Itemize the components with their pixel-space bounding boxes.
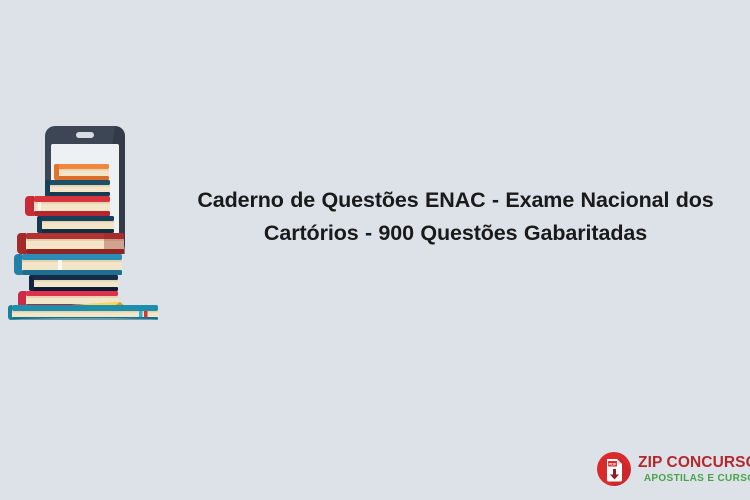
book-red-3 [25, 196, 110, 216]
pdf-download-icon: PDF [596, 451, 632, 487]
illustration-container [0, 112, 175, 322]
product-banner: Caderno de Questões ENAC - Exame Naciona… [0, 0, 750, 500]
book-darkred-5 [17, 233, 124, 254]
title-container: Caderno de Questões ENAC - Exame Naciona… [175, 184, 750, 250]
page-title: Caderno de Questões ENAC - Exame Naciona… [179, 184, 732, 250]
stack-of-books-icon [8, 120, 173, 320]
svg-text:PDF: PDF [609, 461, 618, 466]
hero-section: Caderno de Questões ENAC - Exame Naciona… [0, 112, 750, 322]
brand-tagline: APOSTILAS E CURSOS [638, 474, 750, 484]
pdf-download-circle-icon: PDF [596, 451, 632, 487]
brand-name: ZIP CONCURSOS [638, 455, 750, 471]
book-navy-2 [45, 180, 110, 196]
book-blue-6 [14, 254, 122, 275]
brand-text-block: ZIP CONCURSOS APOSTILAS E CURSOS [638, 454, 750, 484]
book-orange-top [54, 164, 109, 180]
brand-logo[interactable]: PDF ZIP CONCURSOS APOSTILAS E CURSOS [596, 446, 742, 492]
book-navy-7 [29, 275, 118, 291]
book-navy-4 [37, 216, 114, 233]
